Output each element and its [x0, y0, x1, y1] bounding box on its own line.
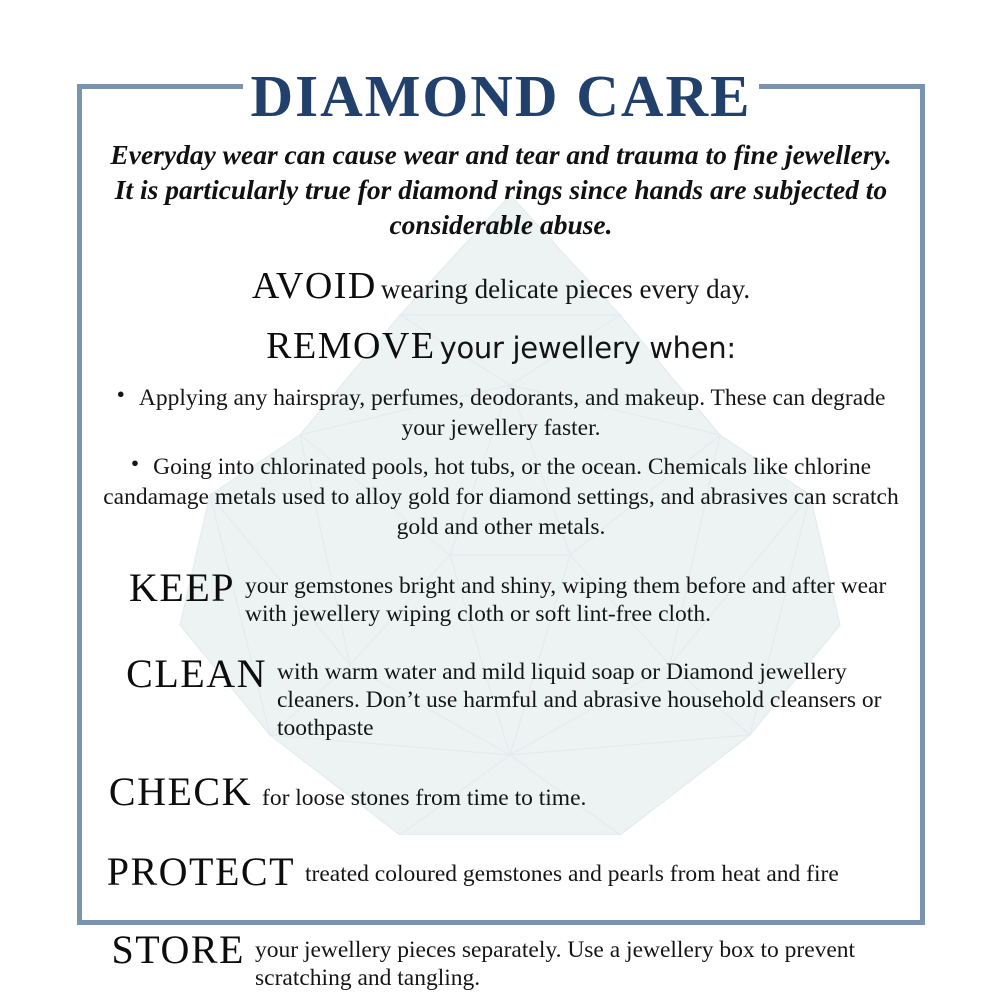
section-clean: CLEAN with warm water and mild liquid so…: [77, 654, 925, 742]
clean-keyword-cell: CLEAN: [77, 654, 277, 694]
avoid-text: wearing delicate pieces every day.: [381, 274, 750, 304]
check-keyword: CHECK: [109, 769, 252, 814]
diamond-care-poster: DIAMOND CARE Everyday wear can cause wea…: [0, 0, 1000, 1000]
protect-text: treated coloured gemstones and pearls fr…: [305, 852, 925, 888]
section-remove: REMOVE your jewellery when:: [77, 324, 925, 368]
list-item-text: Applying any hairspray, perfumes, deodor…: [139, 385, 886, 441]
bullet-dot-icon: •: [131, 449, 139, 479]
list-item: •Going into chlorinated pools, hot tubs,…: [99, 449, 903, 542]
section-protect: PROTECT treated coloured gemstones and p…: [77, 852, 925, 892]
keep-keyword-cell: KEEP: [77, 568, 245, 608]
protect-keyword-cell: PROTECT: [77, 852, 305, 892]
remove-keyword: REMOVE: [266, 325, 435, 367]
protect-keyword: PROTECT: [107, 849, 295, 894]
list-item: •Applying any hairspray, perfumes, deodo…: [99, 380, 903, 443]
store-keyword-cell: STORE: [77, 930, 255, 970]
keep-keyword: KEEP: [129, 565, 235, 610]
keep-text: your gemstones bright and shiny, wiping …: [245, 568, 925, 628]
clean-keyword: CLEAN: [126, 651, 267, 696]
remove-text: your jewellery when:: [440, 331, 736, 365]
check-text: for loose stones from time to time.: [262, 772, 925, 812]
store-keyword: STORE: [112, 927, 245, 972]
check-keyword-cell: CHECK: [77, 772, 262, 812]
clean-text: with warm water and mild liquid soap or …: [277, 654, 925, 742]
section-check: CHECK for loose stones from time to time…: [77, 772, 925, 812]
bullet-dot-icon: •: [117, 380, 125, 410]
section-keep: KEEP your gemstones bright and shiny, wi…: [77, 568, 925, 628]
avoid-keyword: AVOID: [252, 265, 377, 307]
remove-bullet-list: •Applying any hairspray, perfumes, deodo…: [99, 380, 903, 542]
intro-paragraph: Everyday wear can cause wear and tear an…: [105, 137, 897, 242]
section-store: STORE your jewellery pieces separately. …: [77, 930, 925, 992]
store-text: your jewellery pieces separately. Use a …: [255, 930, 925, 992]
page-title: DIAMOND CARE: [77, 60, 925, 127]
poster-content: DIAMOND CARE Everyday wear can cause wea…: [77, 60, 925, 992]
section-avoid: AVOID wearing delicate pieces every day.: [77, 264, 925, 308]
list-item-text: Going into chlorinated pools, hot tubs, …: [103, 454, 899, 540]
